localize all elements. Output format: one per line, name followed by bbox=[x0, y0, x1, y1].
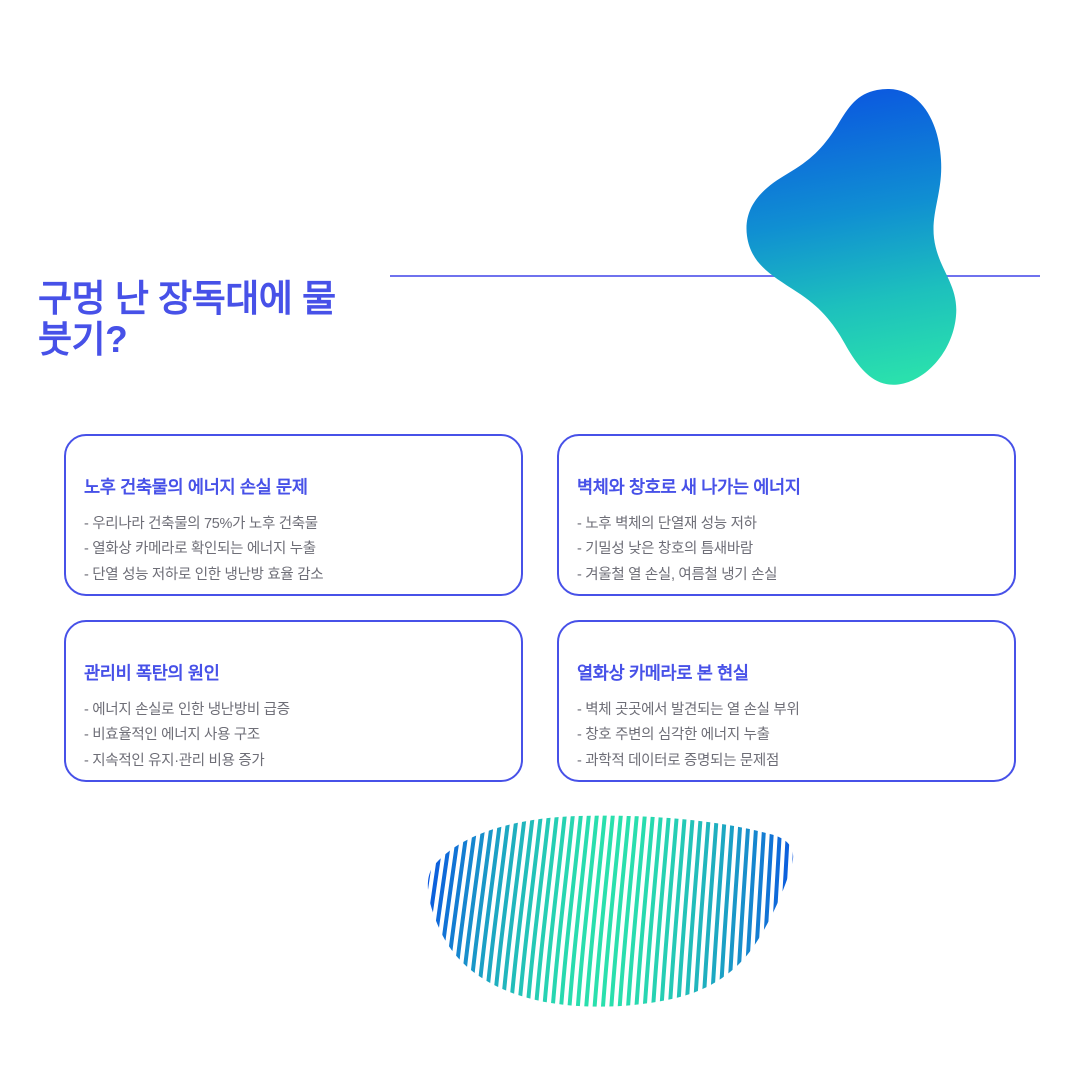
gradient-blob-shape bbox=[745, 88, 997, 388]
card-bullet-list: - 노후 벽체의 단열재 성능 저하 - 기밀성 낮은 창호의 틈새바람 - 겨… bbox=[577, 512, 1014, 588]
card-energy-loss: 노후 건축물의 에너지 손실 문제 - 우리나라 건축물의 75%가 노후 건축… bbox=[64, 434, 523, 596]
stripe bbox=[450, 806, 480, 1018]
card-bullet-list: - 에너지 손실로 인한 냉난방비 급증 - 비효율적인 에너지 사용 구조 -… bbox=[84, 698, 521, 774]
horizontal-rule bbox=[390, 275, 1040, 277]
stripe bbox=[643, 806, 663, 1018]
stripe bbox=[744, 806, 758, 1018]
stripe bbox=[492, 806, 520, 1018]
stripe bbox=[635, 806, 655, 1018]
list-item: - 과학적 데이터로 증명되는 문제점 bbox=[577, 749, 1014, 774]
list-item: - 창호 주변의 심각한 에너지 누출 bbox=[577, 723, 1014, 748]
list-item: - 에너지 손실로 인한 냉난방비 급증 bbox=[84, 698, 521, 723]
stripe bbox=[727, 806, 742, 1018]
stripe bbox=[551, 806, 575, 1018]
stripe bbox=[677, 806, 695, 1018]
stripe bbox=[710, 806, 726, 1018]
stripe bbox=[660, 806, 679, 1018]
stripe bbox=[500, 806, 527, 1018]
stripe bbox=[761, 806, 774, 1018]
card-title: 열화상 카메라로 본 현실 bbox=[577, 660, 1014, 685]
stripe bbox=[584, 806, 607, 1018]
card-bullet-list: - 벽체 곳곳에서 발견되는 열 손실 부위 - 창호 주변의 심각한 에너지 … bbox=[577, 698, 1014, 774]
stripe bbox=[559, 806, 583, 1018]
stripe bbox=[652, 806, 671, 1018]
page-title: 구멍 난 장독대에 물 붓기? bbox=[38, 278, 398, 361]
stripe bbox=[467, 806, 496, 1018]
card-bullet-list: - 우리나라 건축물의 75%가 노후 건축물 - 열화상 카메라로 확인되는 … bbox=[84, 512, 521, 588]
card-title: 관리비 폭탄의 원인 bbox=[84, 660, 521, 685]
list-item: - 비효율적인 에너지 사용 구조 bbox=[84, 723, 521, 748]
stripe bbox=[442, 806, 472, 1018]
stripe bbox=[786, 806, 798, 1018]
stripe bbox=[694, 806, 711, 1018]
stripe bbox=[610, 806, 631, 1018]
stripe bbox=[769, 806, 782, 1018]
stripe bbox=[568, 806, 592, 1018]
card-title: 노후 건축물의 에너지 손실 문제 bbox=[84, 474, 521, 499]
stripe bbox=[517, 806, 543, 1018]
stripe bbox=[534, 806, 559, 1018]
card-wall-window-energy: 벽체와 창호로 새 나가는 에너지 - 노후 벽체의 단열재 성능 저하 - 기… bbox=[557, 434, 1016, 596]
poster-canvas: 구멍 난 장독대에 물 붓기? 노후 건축물의 에너지 손실 문제 - 우리나라… bbox=[0, 0, 1080, 1080]
stripe bbox=[433, 806, 464, 1018]
list-item: - 겨울철 열 손실, 여름철 냉기 손실 bbox=[577, 563, 1014, 588]
list-item: - 우리나라 건축물의 75%가 노후 건축물 bbox=[84, 512, 521, 537]
card-title: 벽체와 창호로 새 나가는 에너지 bbox=[577, 474, 1014, 499]
card-grid: 노후 건축물의 에너지 손실 문제 - 우리나라 건축물의 75%가 노후 건축… bbox=[64, 434, 1016, 782]
list-item: - 단열 성능 저하로 인한 냉난방 효율 감소 bbox=[84, 563, 521, 588]
card-maintenance-cost: 관리비 폭탄의 원인 - 에너지 손실로 인한 냉난방비 급증 - 비효율적인 … bbox=[64, 620, 523, 782]
stripe bbox=[702, 806, 718, 1018]
stripe bbox=[484, 806, 512, 1018]
stripe bbox=[626, 806, 646, 1018]
list-item: - 열화상 카메라로 확인되는 에너지 누출 bbox=[84, 537, 521, 562]
stripe bbox=[425, 806, 456, 1018]
stripe bbox=[576, 806, 599, 1018]
stripe bbox=[736, 806, 751, 1018]
stripe bbox=[458, 806, 487, 1018]
stripe bbox=[593, 806, 615, 1018]
stripe bbox=[778, 806, 790, 1018]
stripe bbox=[601, 806, 623, 1018]
stripe bbox=[752, 806, 766, 1018]
stripe bbox=[719, 806, 735, 1018]
stripe bbox=[509, 806, 536, 1018]
stripe bbox=[618, 806, 639, 1018]
list-item: - 기밀성 낮은 창호의 틈새바람 bbox=[577, 537, 1014, 562]
stripe bbox=[418, 806, 448, 1018]
stripe bbox=[526, 806, 552, 1018]
stripe bbox=[542, 806, 567, 1018]
striped-blob-shape bbox=[418, 806, 798, 1018]
stripe bbox=[668, 806, 686, 1018]
card-thermal-camera-reality: 열화상 카메라로 본 현실 - 벽체 곳곳에서 발견되는 열 손실 부위 - 창… bbox=[557, 620, 1016, 782]
list-item: - 벽체 곳곳에서 발견되는 열 손실 부위 bbox=[577, 698, 1014, 723]
stripe bbox=[418, 806, 440, 1018]
list-item: - 노후 벽체의 단열재 성능 저하 bbox=[577, 512, 1014, 537]
stripe bbox=[685, 806, 702, 1018]
list-item: - 지속적인 유지·관리 비용 증가 bbox=[84, 749, 521, 774]
stripe bbox=[475, 806, 503, 1018]
